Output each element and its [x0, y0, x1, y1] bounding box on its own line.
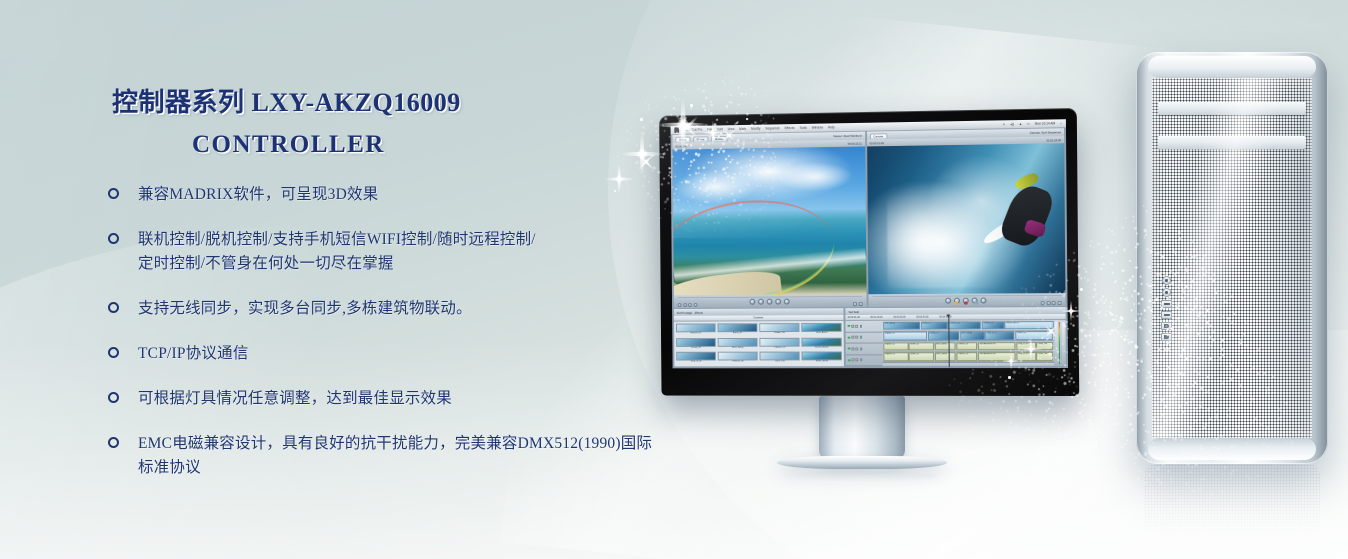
timeline-clip[interactable]: Wipeout_01 — [883, 332, 927, 341]
clip-thumbnail — [718, 323, 758, 332]
monitor-stand-base — [777, 456, 947, 469]
page-title: 控制器系列 LXY-AKZQ16009 CONTROLLER — [0, 0, 660, 159]
video-track-v2: Reef_Aerial Barrel_02 Cutback_04 Offshor… — [883, 320, 1054, 331]
timeline-clip[interactable]: Back_Spray — [935, 352, 956, 360]
menu-item-modify[interactable]: Modify — [751, 127, 761, 131]
list-item: 兼容MADRIX软件，可呈现3D效果 — [108, 183, 660, 207]
bullet-ring-icon — [108, 437, 119, 448]
feature-text: 兼容MADRIX软件，可呈现3D效果 — [138, 183, 660, 207]
previous-edit-icon[interactable] — [945, 297, 951, 303]
menu-item-effects[interactable]: Effects — [785, 126, 795, 130]
apple-logo-icon[interactable] — [674, 127, 679, 133]
viewer-timecode[interactable]: 00:00:14:02 — [675, 144, 689, 148]
clip-name: Close_Out — [760, 361, 800, 364]
timeline-clip[interactable]: Drop_In_05 — [1016, 352, 1035, 361]
list-item[interactable]: Sunset_Beach — [802, 337, 842, 350]
mark-in-out-icon[interactable] — [954, 302, 957, 305]
tower-mesh-panel — [1152, 78, 1312, 438]
canvas-title: Canvas: Surf Sequence — [1030, 130, 1061, 135]
play-icon[interactable] — [766, 298, 772, 304]
canvas-image-surfer[interactable] — [867, 143, 1066, 294]
tab-motion[interactable]: Motion — [711, 136, 727, 141]
feature-list: 兼容MADRIX软件，可呈现3D效果 联机控制/脱机控制/支持手机短信WIFI控… — [0, 183, 660, 480]
mark-in-icon[interactable] — [1041, 301, 1045, 305]
play-around-icon[interactable] — [775, 298, 781, 304]
list-item: EMC电磁兼容设计，具有良好的抗干扰能力，完美兼容DMX512(1990)国际标… — [108, 432, 660, 480]
timeline-panel: Surf Edit 00:00:31:08 00:01:00:00 00:02:… — [846, 307, 1067, 366]
play-in-to-out-icon[interactable] — [758, 298, 764, 304]
final-cut-pro-app: Final Cut Pro File Edit View Mark Modify… — [671, 119, 1069, 368]
bullet-ring-icon — [108, 347, 119, 358]
tab-video[interactable]: Video — [675, 136, 690, 141]
timeline-clip[interactable]: Reef_Aerial — [883, 321, 920, 330]
viewer-image-beach[interactable] — [673, 146, 866, 295]
menu-item-help[interactable]: Help — [828, 125, 835, 129]
firewire-port-icon[interactable] — [1161, 322, 1172, 330]
feature-text: 可根据灯具情况任意调整，达到最佳显示效果 — [138, 387, 660, 411]
clip-name: Shore_Break — [802, 361, 842, 364]
previous-edit-icon[interactable] — [749, 298, 755, 304]
track-header[interactable] — [846, 343, 883, 354]
next-edit-icon[interactable] — [784, 298, 790, 304]
menu-bar-clock[interactable]: Mon 10:14 AM — [1035, 121, 1055, 125]
monitor-screen: Final Cut Pro File Edit View Mark Modify… — [671, 119, 1069, 368]
tab-surf-footage[interactable]: Surf Footage — [677, 310, 692, 314]
add-marker-icon[interactable] — [688, 303, 692, 307]
audio-meters — [1054, 320, 1066, 366]
list-item[interactable]: Shore_Break — [802, 352, 842, 365]
timeline-scrollbar[interactable] — [883, 362, 1054, 366]
timeline-clip[interactable]: Cutback_04 — [948, 321, 981, 330]
list-item[interactable]: Barrel_02 — [718, 323, 758, 336]
audio-line-in-icon[interactable] — [1162, 288, 1171, 297]
timeline-clip[interactable]: Back_Spray — [960, 331, 985, 340]
clip-thumbnail — [801, 323, 841, 332]
feature-text-line2: 定时控制/不管身在何处一切尽在掌握 — [138, 252, 660, 276]
title-line-controller: CONTROLLER — [192, 131, 660, 159]
canvas-transport-bar — [868, 293, 1066, 307]
tab-surf-edit[interactable]: Surf Edit — [848, 310, 858, 314]
menu-item-tools[interactable]: Tools — [799, 126, 807, 130]
viewer-row: Video Filters Motion Viewer: Reef Rainbo… — [671, 128, 1068, 308]
ruler-mark: 00:01:00:00 — [870, 316, 882, 319]
tab-filters[interactable]: Filters — [693, 136, 708, 141]
bluetooth-icon[interactable]: ✦ — [1003, 122, 1006, 126]
list-item[interactable]: Paddle_Out — [759, 323, 799, 336]
feature-text: 支持无线同步，实现多台同步,多栋建筑物联动。 — [138, 297, 660, 321]
list-item[interactable]: Wipeout_01 — [676, 323, 716, 335]
track-mute-icon[interactable] — [860, 359, 863, 362]
browser-panel: Surf Footage Effects Contents Wipeout_01… — [674, 308, 844, 366]
track-header-column — [846, 321, 883, 366]
track-enable-icon[interactable] — [848, 325, 850, 327]
list-item[interactable]: Back_Spray — [718, 338, 758, 350]
clip-thumbnail — [676, 323, 716, 332]
list-item: TCP/IP协议通信 — [108, 342, 660, 366]
tower-reflection — [1144, 464, 1320, 536]
timeline-clip[interactable]: Cutback_04 — [956, 352, 977, 360]
list-item: 可根据灯具情况任意调整，达到最佳显示效果 — [108, 387, 660, 411]
clip-thumbnail — [759, 323, 799, 332]
timeline-clip[interactable]: Wipeout_01 — [883, 352, 908, 360]
clip-name: Cutback_04 — [760, 346, 800, 349]
bottom-row: Surf Footage Effects Contents Wipeout_01… — [672, 306, 1068, 368]
list-item[interactable]: Close_Out — [760, 352, 800, 364]
timeline-clip[interactable]: Close_Out — [1015, 331, 1053, 340]
clip-name: Barrel_02 — [718, 332, 758, 335]
timeline-clip[interactable]: Sunset_Beach — [1004, 321, 1053, 330]
timeline-clip[interactable]: Barrel_02 — [909, 342, 934, 350]
audio-track-a2: Wipeout_01 Barrel_02 Back_Spray Cutback_… — [883, 352, 1054, 363]
menu-item-view[interactable]: View — [728, 127, 735, 131]
timeline-clip[interactable]: Cutback_04 — [956, 342, 977, 350]
feature-text: TCP/IP协议通信 — [138, 342, 660, 366]
track-lock-icon[interactable] — [852, 347, 855, 350]
computer-monitor: Final Cut Pro File Edit View Mark Modify… — [659, 108, 1079, 396]
track-lanes: Reef_Aerial Barrel_02 Cutback_04 Offshor… — [883, 320, 1055, 366]
track-mute-icon[interactable] — [860, 347, 863, 350]
timeline-tracks: Reef_Aerial Barrel_02 Cutback_04 Offshor… — [846, 320, 1066, 366]
list-item[interactable]: Cutback_04 — [759, 337, 799, 350]
menu-bar-spacer — [839, 124, 997, 127]
mark-out-icon[interactable] — [1046, 301, 1050, 305]
track-visibility-icon[interactable] — [860, 325, 863, 328]
timeline-clip[interactable]: Surf Ambience.aiff — [978, 352, 1016, 361]
mark-in-icon[interactable] — [678, 303, 682, 307]
title-line-model: 控制器系列 LXY-AKZQ16009 — [112, 82, 660, 119]
timeline-clip[interactable]: Close_Out — [1036, 342, 1053, 351]
timeline-clip[interactable]: Barrel_02 — [909, 352, 934, 360]
canvas-duration[interactable]: 01:01:18:00 — [1046, 138, 1061, 142]
track-lock-icon[interactable] — [852, 336, 855, 339]
track-target-icon[interactable] — [855, 325, 858, 328]
ruler-mark: 00:02:00:00 — [893, 316, 905, 319]
browser-thumbnail-grid: Wipeout_01 Barrel_02 Paddle_Out Reef_Aer… — [674, 321, 844, 366]
video-track-v1: Wipeout_01 Lineup_03 Back_Spray Drop_In_… — [883, 331, 1054, 342]
clip-name: Drop_In_05 — [676, 361, 716, 364]
next-edit-icon[interactable] — [981, 297, 987, 303]
clip-thumbnail — [802, 337, 842, 346]
mark-out-icon[interactable] — [683, 303, 687, 307]
menu-item-sequence[interactable]: Sequence — [765, 126, 779, 130]
optical-drive-slot-2[interactable] — [1158, 136, 1306, 149]
bullet-ring-icon — [108, 188, 119, 199]
feature-text: 联机控制/脱机控制/支持手机短信WIFI控制/随时远程控制/ — [138, 228, 660, 252]
track-header[interactable] — [846, 355, 883, 366]
meter-scale — [1055, 322, 1058, 364]
product-banner: 控制器系列 LXY-AKZQ16009 CONTROLLER 兼容MADRIX软… — [0, 0, 1348, 559]
battery-icon[interactable]: ▭ — [1027, 122, 1030, 126]
bullet-ring-icon — [108, 392, 119, 403]
search-icon[interactable]: ⌕ — [1060, 121, 1062, 125]
tower-top-handle — [1148, 56, 1316, 78]
track-enable-icon[interactable] — [848, 336, 850, 338]
record-icon[interactable] — [964, 302, 967, 305]
tower-port-cluster — [1160, 276, 1173, 341]
tab-effects[interactable]: Effects — [695, 310, 703, 314]
clip-thumbnail — [718, 338, 758, 347]
audio-track-a1: Wipeout_01 Barrel_02 Back_Spray Cutback_… — [883, 341, 1054, 352]
track-header[interactable] — [846, 332, 883, 343]
list-item: 联机控制/脱机控制/支持手机短信WIFI控制/随时远程控制/ 定时控制/不管身在… — [108, 228, 660, 276]
feature-text: EMC电磁兼容设计，具有良好的抗干扰能力，完美兼容DMX512(1990)国际标… — [138, 432, 660, 480]
usb-port-icon[interactable] — [1161, 311, 1172, 319]
track-lock-icon[interactable] — [852, 359, 855, 362]
clip-name: Reef_Aerial — [802, 332, 842, 335]
sparkle-dot — [1080, 288, 1083, 291]
list-item[interactable]: Reef_Aerial — [801, 323, 841, 336]
list-item[interactable]: Lineup_03 — [676, 338, 716, 350]
timeline-clip[interactable]: Wipeout_01 — [883, 342, 908, 350]
ruler-mark: 00:03:00:00 — [916, 316, 928, 319]
clip-name: Lineup_03 — [676, 347, 716, 350]
timeline-clip[interactable]: Lineup_03 — [928, 331, 959, 340]
monitor-stand-neck — [819, 396, 905, 460]
list-item[interactable]: Offshore_06 — [718, 352, 758, 364]
tower-bottom-handle — [1148, 438, 1316, 460]
menu-item-edit[interactable]: Edit — [717, 127, 723, 131]
timeline-clip[interactable]: Offshore_06 — [982, 321, 1004, 330]
list-item[interactable]: Drop_In_05 — [676, 352, 716, 364]
timeline-timecode[interactable]: 00:00:31:08 — [848, 316, 860, 319]
bullet-ring-icon — [108, 233, 119, 244]
clip-thumbnail — [676, 338, 716, 347]
list-item: 支持无线同步，实现多台同步,多栋建筑物联动。 — [108, 297, 660, 321]
viewer-pane: Video Filters Motion Viewer: Reef Rainbo… — [672, 132, 866, 308]
meter-controls[interactable] — [1062, 322, 1065, 364]
monitor-bezel: Final Cut Pro File Edit View Mark Modify… — [659, 108, 1079, 396]
timeline-clip[interactable]: Barrel_02 — [921, 321, 948, 330]
viewer-transport-bar — [674, 294, 866, 308]
clip-name: Wipeout_01 — [676, 332, 716, 335]
menu-item-file[interactable]: File — [707, 127, 712, 131]
clip-name: Paddle_Out — [759, 332, 799, 335]
timeline-ruler[interactable]: 00:00:31:08 00:01:00:00 00:02:00:00 00:0… — [846, 314, 1066, 321]
clip-name: Offshore_06 — [718, 361, 758, 364]
viewer-right-buttons — [853, 302, 862, 306]
copy-block: 控制器系列 LXY-AKZQ16009 CONTROLLER 兼容MADRIX软… — [0, 0, 660, 501]
track-lock-icon[interactable] — [851, 325, 854, 328]
track-target-icon[interactable] — [856, 359, 859, 362]
wifi-icon[interactable]: ▲ — [1019, 122, 1022, 126]
track-enable-icon[interactable] — [848, 359, 850, 361]
timeline-clip[interactable]: Drop_In_05 — [985, 331, 1014, 340]
menu-item-app[interactable]: Final Cut Pro — [684, 128, 703, 132]
timeline-clip[interactable]: Close_Out — [1036, 352, 1053, 361]
track-visibility-icon[interactable] — [860, 336, 863, 339]
add-keyframe-icon[interactable] — [693, 303, 697, 307]
track-target-icon[interactable] — [856, 347, 859, 350]
add-keyframe-icon[interactable] — [1058, 301, 1062, 305]
headphone-jack-icon[interactable] — [1162, 276, 1171, 285]
usb-port-icon[interactable] — [1161, 300, 1172, 308]
monitor-stand-reflection — [787, 471, 937, 483]
timeline-clip[interactable]: Back_Spray — [935, 342, 956, 350]
volume-icon[interactable]: ◂)) — [1010, 122, 1014, 126]
optical-drive-slot-1[interactable] — [1158, 102, 1306, 115]
view-options-icon[interactable] — [858, 302, 862, 306]
menu-item-mark[interactable]: Mark — [739, 127, 746, 131]
viewer-left-buttons — [678, 303, 698, 307]
track-header[interactable] — [846, 321, 883, 332]
clip-thumbnail — [759, 337, 799, 346]
tab-canvas[interactable]: Canvas — [869, 133, 887, 138]
track-enable-icon[interactable] — [848, 348, 850, 350]
timeline-clip[interactable]: Surf Ambience.aiff — [978, 342, 1016, 351]
canvas-right-buttons — [1041, 301, 1062, 305]
bullet-ring-icon — [108, 302, 119, 313]
zoom-level-icon[interactable] — [853, 302, 857, 306]
canvas-pane: Canvas Canvas: Surf Sequence 00:00:31:08… — [867, 128, 1066, 307]
track-target-icon[interactable] — [856, 336, 859, 339]
computer-tower — [1136, 52, 1328, 464]
add-marker-icon[interactable] — [1052, 301, 1056, 305]
timeline-clip[interactable]: Drop_In_05 — [1016, 342, 1035, 351]
clip-name: Back_Spray — [718, 346, 758, 349]
menu-item-window[interactable]: Window — [812, 126, 823, 130]
viewer-duration[interactable]: 00:00:22:11 — [848, 141, 862, 145]
firewire-port-icon[interactable] — [1161, 333, 1172, 341]
viewer-title: Viewer: Reef Rainbow — [833, 134, 862, 138]
clip-name: Sunset_Beach — [802, 346, 842, 349]
edit-overlay-icon[interactable] — [974, 302, 979, 305]
canvas-timecode[interactable]: 00:00:31:08 — [870, 141, 884, 145]
